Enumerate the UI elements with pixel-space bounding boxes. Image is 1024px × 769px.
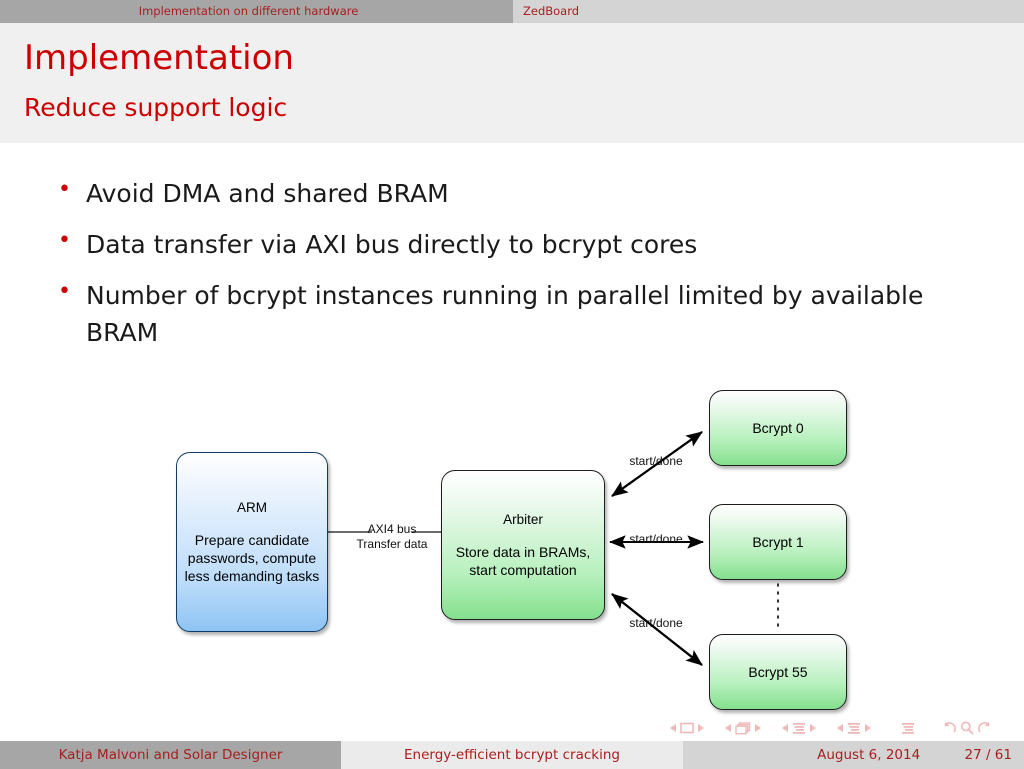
node-arm-body: Prepare candidate passwords, compute les…: [177, 531, 327, 585]
prev-slide-icon[interactable]: [670, 724, 676, 732]
subsection-icon[interactable]: [792, 722, 806, 735]
frame-nav-group[interactable]: [721, 722, 765, 735]
footer-bar: Katja Malvoni and Solar Designer Energy-…: [0, 741, 1024, 769]
bullet-text: Data transfer via AXI bus directly to bc…: [86, 226, 697, 263]
slide-nav-group[interactable]: [666, 722, 708, 734]
footer-page-number: 27 / 61: [965, 747, 1013, 763]
bullet-text: Number of bcrypt instances running in pa…: [86, 277, 958, 351]
edge-label-start-done-0: start/done: [620, 454, 692, 469]
next-subsection-icon[interactable]: [810, 724, 816, 732]
section-icon[interactable]: [847, 722, 861, 735]
title-band: Implementation Reduce support logic: [0, 23, 1024, 143]
page-title: Implementation: [24, 41, 294, 75]
node-bcrypt-55-label: Bcrypt 55: [748, 663, 807, 681]
bullet-list: • Avoid DMA and shared BRAM • Data trans…: [58, 175, 978, 365]
node-bcrypt-1[interactable]: Bcrypt 1: [709, 504, 847, 580]
nav-section-tab[interactable]: Implementation on different hardware: [0, 0, 513, 23]
footer-author: Katja Malvoni and Solar Designer: [0, 741, 341, 769]
document-nav-group[interactable]: [901, 722, 915, 735]
footer-date: August 6, 2014: [817, 747, 920, 763]
node-bcrypt-55[interactable]: Bcrypt 55: [709, 634, 847, 710]
prev-subsection-icon[interactable]: [782, 724, 788, 732]
bullet-dot-icon: •: [58, 226, 86, 256]
edge-label-axi-line2: Transfer data: [340, 537, 444, 552]
slide-icon[interactable]: [680, 722, 694, 734]
footer-title: Energy-efficient bcrypt cracking: [341, 741, 683, 769]
prev-section-icon[interactable]: [837, 724, 843, 732]
forward-arrow-icon[interactable]: [977, 721, 993, 735]
section-nav-group[interactable]: [833, 722, 875, 735]
node-arbiter-heading: Arbiter: [503, 511, 543, 529]
nav-subsection-label: ZedBoard: [523, 4, 579, 18]
edge-label-start-done-1: start/done: [620, 532, 692, 547]
node-arbiter[interactable]: Arbiter Store data in BRAMs, start compu…: [441, 470, 605, 620]
list-item: • Avoid DMA and shared BRAM: [58, 175, 978, 212]
back-arrow-icon[interactable]: [941, 721, 957, 735]
subsection-nav-group[interactable]: [778, 722, 820, 735]
search-icon[interactable]: [960, 721, 974, 735]
edge-label-start-done-55: start/done: [620, 616, 692, 631]
nav-subsection-tab-active[interactable]: ZedBoard: [513, 0, 1024, 23]
footer-meta: August 6, 2014 27 / 61: [683, 741, 1024, 769]
node-bcrypt-0[interactable]: Bcrypt 0: [709, 390, 847, 466]
next-slide-icon[interactable]: [698, 724, 704, 732]
node-bcrypt-1-label: Bcrypt 1: [752, 533, 803, 551]
page-subtitle: Reduce support logic: [24, 95, 287, 120]
list-item: • Number of bcrypt instances running in …: [58, 277, 978, 351]
top-navigation-bar: Implementation on different hardware Zed…: [0, 0, 1024, 23]
frames-icon[interactable]: [735, 722, 751, 735]
edge-label-axi-line1: AXI4 bus: [340, 522, 444, 537]
beamer-navigation-symbols: [666, 716, 1006, 740]
node-arbiter-body: Store data in BRAMs, start computation: [442, 543, 604, 579]
node-bcrypt-0-label: Bcrypt 0: [752, 419, 803, 437]
bullet-dot-icon: •: [58, 277, 86, 307]
bullet-dot-icon: •: [58, 175, 86, 205]
edge-label-axi: AXI4 bus Transfer data: [340, 522, 444, 552]
document-icon[interactable]: [901, 722, 915, 735]
list-item: • Data transfer via AXI bus directly to …: [58, 226, 978, 263]
node-arm[interactable]: ARM Prepare candidate passwords, compute…: [176, 452, 328, 632]
history-nav-group[interactable]: [941, 721, 993, 735]
prev-frame-icon[interactable]: [725, 724, 731, 732]
node-arm-heading: ARM: [237, 499, 267, 517]
next-section-icon[interactable]: [865, 724, 871, 732]
bullet-text: Avoid DMA and shared BRAM: [86, 175, 449, 212]
next-frame-icon[interactable]: [755, 724, 761, 732]
architecture-diagram: ARM Prepare candidate passwords, compute…: [0, 360, 1024, 710]
nav-section-label: Implementation on different hardware: [139, 4, 375, 18]
